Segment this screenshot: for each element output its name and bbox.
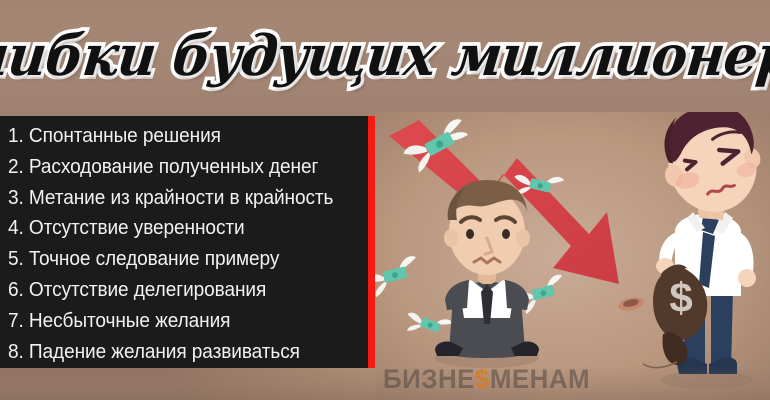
poster-root: $ Ошибки будущих миллионеров 1. Спонтанн… (0, 0, 770, 400)
ear-right (516, 229, 530, 247)
title-area: Ошибки будущих миллионеров (0, 0, 770, 112)
illustration-area: $ (375, 112, 770, 400)
list-item: 7. Несбыточные желания (8, 306, 343, 337)
page-title: Ошибки будущих миллионеров (0, 23, 770, 89)
list-item: 2. Расходование полученных денег (8, 152, 343, 183)
eye-right (502, 229, 510, 239)
watermark-suffix: МЕНАМ (490, 364, 590, 394)
eye-left (466, 229, 474, 239)
list-item: 6. Отсутствие делегирования (8, 275, 343, 306)
hand-right (738, 269, 756, 287)
red-accent-stripe (368, 116, 375, 368)
list-item: 4. Отсутствие уверенности (8, 213, 343, 244)
watermark-text: БИЗНЕ$МЕНАМ (383, 364, 590, 395)
list-item: 8. Падение желания развиваться (8, 337, 343, 368)
mistakes-list-panel: 1. Спонтанные решения 2. Расходование по… (0, 116, 368, 368)
mistakes-list: 1. Спонтанные решения 2. Расходование по… (8, 121, 368, 367)
dollar-symbol: $ (669, 274, 692, 321)
list-item: 1. Спонтанные решения (8, 121, 343, 152)
list-item: 3. Метание из крайности в крайность (8, 183, 343, 214)
watermark: БИЗНЕ$МЕНАМ (383, 363, 623, 395)
list-item: 5. Точное следование примеру (8, 244, 343, 275)
watermark-prefix: БИЗНЕ (383, 364, 475, 394)
watermark-dollar-icon: $ (475, 364, 490, 394)
ear-left (444, 229, 458, 247)
